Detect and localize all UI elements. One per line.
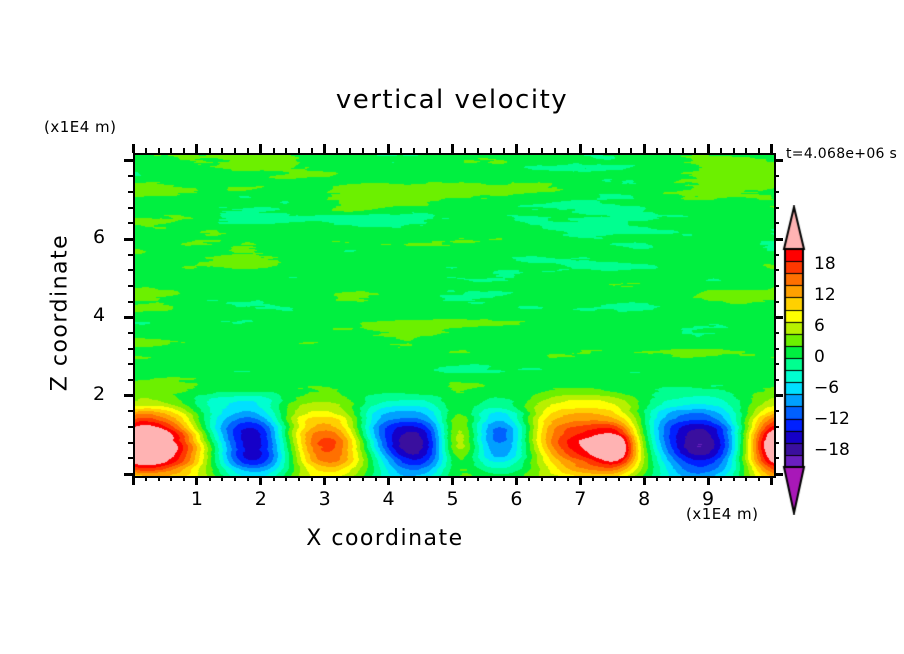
x-tick [273,476,275,481]
x-tick [426,476,428,481]
x-tick [221,476,223,481]
figure-canvas: vertical velocity (x1E4 m) (x1E4 m) t=4.… [0,0,904,654]
z-tick [128,426,133,428]
x-tick-label-9: 9 [678,488,738,510]
x-tick [770,476,773,485]
chart-title: vertical velocity [0,85,904,115]
x-tick [720,148,722,153]
x-tick [630,148,632,153]
z-tick [774,191,779,193]
x-tick [694,476,696,481]
z-tick [128,442,133,444]
x-tick [145,148,147,153]
colorbar-tick-label-12: 12 [814,285,836,305]
x-tick [400,148,402,153]
x-tick [311,148,313,153]
x-tick-label-6: 6 [486,488,546,510]
x-tick [387,476,390,485]
x-tick [515,476,518,485]
x-tick [349,148,351,153]
x-tick [477,476,479,481]
x-tick [733,476,735,481]
x-tick [592,148,594,153]
x-tick [694,148,696,153]
z-tick [128,175,133,177]
x-tick [682,148,684,153]
z-tick [774,159,783,162]
x-tick [298,476,300,481]
x-tick [567,148,569,153]
x-tick [247,148,249,153]
x-tick [234,148,236,153]
z-tick-label-2: 2 [69,383,129,405]
time-annotation: t=4.068e+06 s [786,146,897,162]
x-tick [323,144,326,153]
x-tick [567,476,569,481]
x-tick [745,148,747,153]
x-tick [592,476,594,481]
z-tick [128,457,133,459]
x-tick [451,476,454,485]
x-tick [464,148,466,153]
x-tick [195,476,198,485]
colorbar-tick-label--18: −18 [814,440,850,460]
x-tick [336,476,338,481]
x-tick [183,476,185,481]
x-tick [132,144,135,153]
x-tick [528,476,530,481]
z-tick [124,473,133,476]
x-tick [707,144,710,153]
x-tick [170,476,172,481]
x-tick [132,476,135,485]
z-tick-label-6: 6 [69,226,129,248]
x-tick-label-8: 8 [614,488,674,510]
x-tick-label-3: 3 [295,488,355,510]
x-tick [158,476,160,481]
z-tick [128,332,133,334]
z-tick [128,379,133,381]
x-tick [273,148,275,153]
x-tick [541,148,543,153]
x-tick [183,148,185,153]
x-tick [618,148,620,153]
x-tick [259,144,262,153]
x-tick [259,476,262,485]
x-tick [656,148,658,153]
x-tick [413,476,415,481]
x-tick [451,144,454,153]
x-tick [554,148,556,153]
x-tick [170,148,172,153]
x-tick [669,476,671,481]
x-tick [477,148,479,153]
x-tick [209,476,211,481]
x-tick [285,476,287,481]
x-tick [515,144,518,153]
x-tick [758,148,760,153]
x-tick [733,148,735,153]
colorbar-tick-label-18: 18 [814,254,836,274]
x-tick [720,476,722,481]
x-tick [490,148,492,153]
colorbar-tick-label--6: −6 [814,378,839,398]
plot-area [133,153,776,478]
z-tick [124,159,133,162]
velocity-contour-field [135,155,774,476]
z-tick [774,175,779,177]
x-tick [323,476,326,485]
x-tick [439,476,441,481]
x-tick [682,476,684,481]
x-tick [503,476,505,481]
x-tick [490,476,492,481]
x-tick [145,476,147,481]
x-tick [221,148,223,153]
x-tick [375,476,377,481]
x-tick [413,148,415,153]
x-tick [298,148,300,153]
x-tick [745,476,747,481]
x-tick [605,148,607,153]
z-tick [128,222,133,224]
z-tick [128,269,133,271]
colorbar-gradient [778,205,812,515]
x-tick [528,148,530,153]
x-tick [336,148,338,153]
x-tick-label-7: 7 [550,488,610,510]
x-tick [464,476,466,481]
x-tick [311,476,313,481]
colorbar-tick-label-6: 6 [814,316,825,336]
x-tick [541,476,543,481]
x-tick [630,476,632,481]
x-tick [195,144,198,153]
x-tick [375,148,377,153]
x-tick [579,476,582,485]
z-tick-label-4: 4 [69,304,129,326]
x-tick [669,148,671,153]
x-tick [234,476,236,481]
colorbar-tick-label--12: −12 [814,409,850,429]
x-tick [707,476,710,485]
x-tick [503,148,505,153]
z-axis-unit-label: (x1E4 m) [44,118,117,136]
x-tick [618,476,620,481]
x-tick [758,476,760,481]
x-tick [247,476,249,481]
z-tick [128,348,133,350]
x-tick [439,148,441,153]
x-tick [426,148,428,153]
x-tick [579,144,582,153]
x-tick [362,148,364,153]
x-tick [349,476,351,481]
x-tick-label-2: 2 [231,488,291,510]
x-tick [285,148,287,153]
x-tick [158,148,160,153]
colorbar-tick-label-0: 0 [814,347,825,367]
x-tick [770,144,773,153]
z-tick [128,363,133,365]
z-tick [128,410,133,412]
x-tick-label-4: 4 [359,488,419,510]
x-tick [643,476,646,485]
x-tick [605,476,607,481]
z-tick [128,254,133,256]
x-tick [554,476,556,481]
x-tick-label-1: 1 [167,488,227,510]
z-tick [128,285,133,287]
x-tick [387,144,390,153]
x-axis-title: X coordinate [0,526,770,551]
x-tick [209,148,211,153]
z-tick [128,191,133,193]
z-tick [128,301,133,303]
colorbar [778,205,812,515]
z-tick [128,207,133,209]
x-tick [656,476,658,481]
x-tick-label-5: 5 [423,488,483,510]
x-tick [362,476,364,481]
x-tick [400,476,402,481]
x-tick [643,144,646,153]
